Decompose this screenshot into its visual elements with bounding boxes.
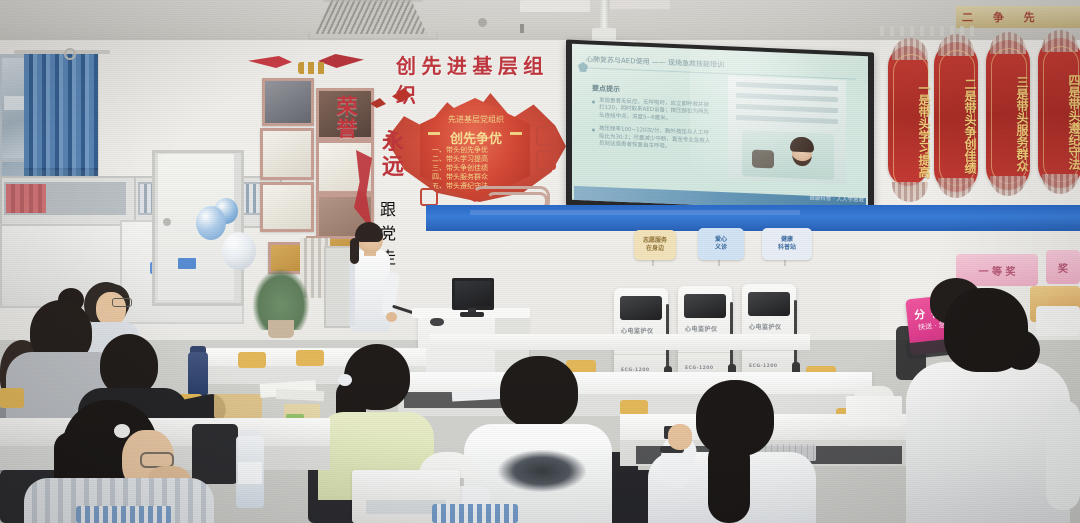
papers-on-desk — [276, 389, 324, 401]
wall-blue-band — [426, 205, 1080, 231]
tshirt-graphic — [498, 450, 586, 492]
audience-hand — [668, 424, 692, 450]
honor-char-1: 荣 — [336, 96, 358, 118]
balloon-blue — [196, 206, 226, 240]
blue-curtain — [24, 50, 98, 170]
hair-clip — [114, 424, 130, 438]
banner-text: 一是带头学习提高 — [888, 70, 932, 190]
device-brand-label: 心电监护仪 — [749, 322, 782, 331]
wall-decor-square — [536, 150, 556, 170]
wall-decor-square — [420, 188, 438, 206]
banner-text: 四是带头遵纪守法 — [1038, 62, 1080, 182]
slogan-char: 创 — [396, 50, 417, 79]
device-strip — [614, 354, 668, 361]
certificate-frame — [262, 78, 314, 126]
staff-hair-bun — [1002, 330, 1040, 370]
ceiling-light — [520, 0, 590, 12]
chair-back-yellow — [296, 350, 324, 366]
audience-glasses — [112, 298, 132, 307]
presenter-ponytail — [350, 238, 359, 264]
smoke-detector-icon — [478, 18, 487, 27]
emblem-list-item: 二、带头学习提高 — [432, 155, 524, 164]
device-model-label: ECG-1200 — [749, 364, 777, 369]
loyalty-subtext: 跟党走 — [380, 196, 408, 230]
wall-blue-band-highlight — [470, 210, 800, 215]
device-brand-label: 心电监护仪 — [685, 324, 718, 333]
certificate-frame — [260, 128, 314, 180]
classroom-photo: 荣 誉 创 先 进 基 层 组 织 先进基层党组织 创先争优 一、带头创先争优 … — [0, 0, 1080, 523]
cabinet-files-red — [6, 184, 46, 213]
wall-sign: 志愿服务 在身边 — [634, 230, 676, 260]
emblem-eyebrow: 先进基层党组织 — [432, 114, 520, 126]
device-model-label: ECG-1200 — [685, 366, 713, 371]
tissue-box — [846, 396, 902, 426]
ceiling-hook — [520, 24, 524, 33]
podium-monitor-screen — [455, 281, 491, 306]
emblem-heading: 创先争优 — [438, 128, 514, 144]
desk-back-row — [430, 334, 810, 350]
screen-glare — [690, 49, 840, 205]
slogan-char: 先 — [421, 50, 442, 79]
loyalty-slogan: 永 远 — [380, 130, 406, 194]
loyalty-char-2: 远 — [380, 155, 406, 180]
wall-banner: 四是带头遵纪守法 — [1038, 38, 1080, 188]
curtain-rod — [14, 50, 110, 54]
blue-pattern-case — [432, 504, 518, 523]
honor-wall-text: 荣 誉 — [336, 96, 358, 184]
device-screen — [748, 292, 790, 316]
chair-back-yellow — [620, 400, 648, 415]
emblem-list-item: 三、带头争创佳绩 — [432, 164, 524, 173]
desk-box-yellow — [214, 394, 262, 418]
water-bottle-label — [238, 462, 262, 484]
wall-banner: 一是带头学习提高 — [888, 46, 928, 186]
device-screen — [620, 296, 662, 320]
blue-pattern-case — [76, 506, 172, 523]
audience-head — [344, 344, 410, 410]
chair-back-yellow — [0, 388, 24, 408]
banner-text: 二是带头争创佳绩 — [934, 66, 978, 186]
device-strip — [742, 350, 796, 357]
emblem-list-item: 四、带头服务群众 — [432, 173, 524, 182]
wall-sign: 爱心 义诊 — [698, 228, 744, 260]
ceiling-light-secondary — [610, 0, 670, 9]
presenter-coat-edge — [349, 262, 355, 326]
medal-decor — [298, 62, 328, 74]
presenter-hand — [386, 312, 397, 322]
plant-pot — [268, 320, 294, 338]
wall-slogan: 创 先 进 基 层 组 织 — [396, 50, 546, 82]
loyalty-char-1: 永 — [380, 130, 406, 155]
gold-plaque-text: 二 争 先 — [962, 9, 1074, 25]
slogan-char: 层 — [498, 50, 519, 79]
hair-clip — [338, 374, 352, 386]
balloon-white — [222, 232, 256, 270]
presenter-hair — [355, 222, 383, 242]
slogan-char: 组 — [523, 50, 544, 79]
chair-back-yellow — [238, 352, 266, 368]
curtain-ring — [64, 48, 76, 60]
pink-award-sign: 奖 — [1046, 250, 1080, 284]
chair-back-black — [192, 424, 238, 484]
honor-char-2: 誉 — [336, 118, 358, 140]
staff-arm — [1046, 400, 1080, 510]
side-object-white — [1036, 306, 1080, 336]
wall-banner: 二是带头争创佳绩 — [934, 42, 978, 192]
door-handle-icon — [163, 218, 171, 226]
device-strip — [678, 352, 732, 359]
device-cable — [794, 300, 797, 364]
certificate-frame — [260, 182, 314, 232]
monitor-stand-base — [460, 312, 484, 317]
wall-sign: 健康 科普站 — [762, 228, 812, 260]
door-sign — [178, 258, 196, 269]
wall-decor-square — [536, 126, 556, 146]
audience-head — [500, 356, 578, 428]
wall-banner: 三是带头服务群众 — [986, 40, 1030, 190]
slogan-char: 进 — [447, 50, 468, 79]
device-screen — [684, 294, 726, 318]
audience-ponytail — [708, 438, 750, 523]
audience-head — [100, 334, 158, 396]
banner-text: 三是带头服务群众 — [986, 64, 1030, 184]
computer-mouse-icon — [430, 318, 444, 326]
patient-monitor-device: 心电监护仪 ECG-1200 — [742, 284, 796, 380]
emblem-list-item: 一、带头创先争优 — [432, 146, 524, 155]
thermos-flask — [188, 352, 208, 398]
slogan-char: 基 — [472, 50, 493, 79]
air-vent-frame — [308, 0, 438, 40]
